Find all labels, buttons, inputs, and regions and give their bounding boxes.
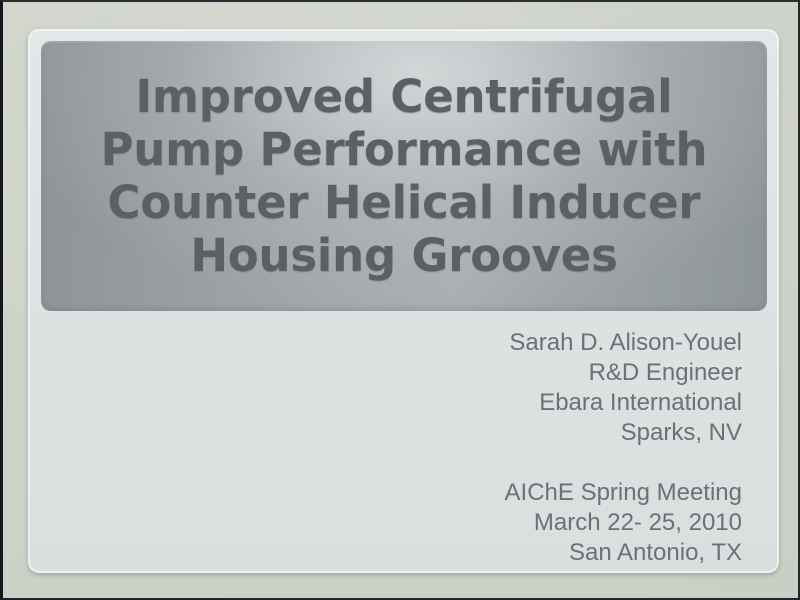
presenter-location: Sparks, NV — [41, 418, 742, 448]
slide-subtitle-block: Sarah D. Alison-Youel R&D Engineer Ebara… — [41, 328, 767, 568]
title-line-1: Improved Centrifugal — [47, 70, 761, 123]
title-line-2: Pump Performance with — [47, 123, 761, 176]
conference-venue: San Antonio, TX — [41, 538, 742, 568]
author-block: Sarah D. Alison-Youel R&D Engineer Ebara… — [41, 328, 742, 448]
presenter-name: Sarah D. Alison-Youel — [41, 328, 742, 358]
slide-title: Improved Centrifugal Pump Performance wi… — [41, 70, 767, 282]
conference-name: AIChE Spring Meeting — [41, 478, 742, 508]
presenter-role: R&D Engineer — [41, 358, 742, 388]
presenter-organization: Ebara International — [41, 388, 742, 418]
slide-viewer-frame: Improved Centrifugal Pump Performance wi… — [0, 0, 800, 600]
block-spacer — [41, 448, 742, 478]
title-plaque: Improved Centrifugal Pump Performance wi… — [41, 41, 767, 311]
title-line-4: Housing Grooves — [47, 229, 761, 282]
title-line-3: Counter Helical Inducer — [47, 176, 761, 229]
conference-dates: March 22- 25, 2010 — [41, 508, 742, 538]
presentation-slide-card: Improved Centrifugal Pump Performance wi… — [28, 29, 779, 573]
event-block: AIChE Spring Meeting March 22- 25, 2010 … — [41, 478, 742, 568]
